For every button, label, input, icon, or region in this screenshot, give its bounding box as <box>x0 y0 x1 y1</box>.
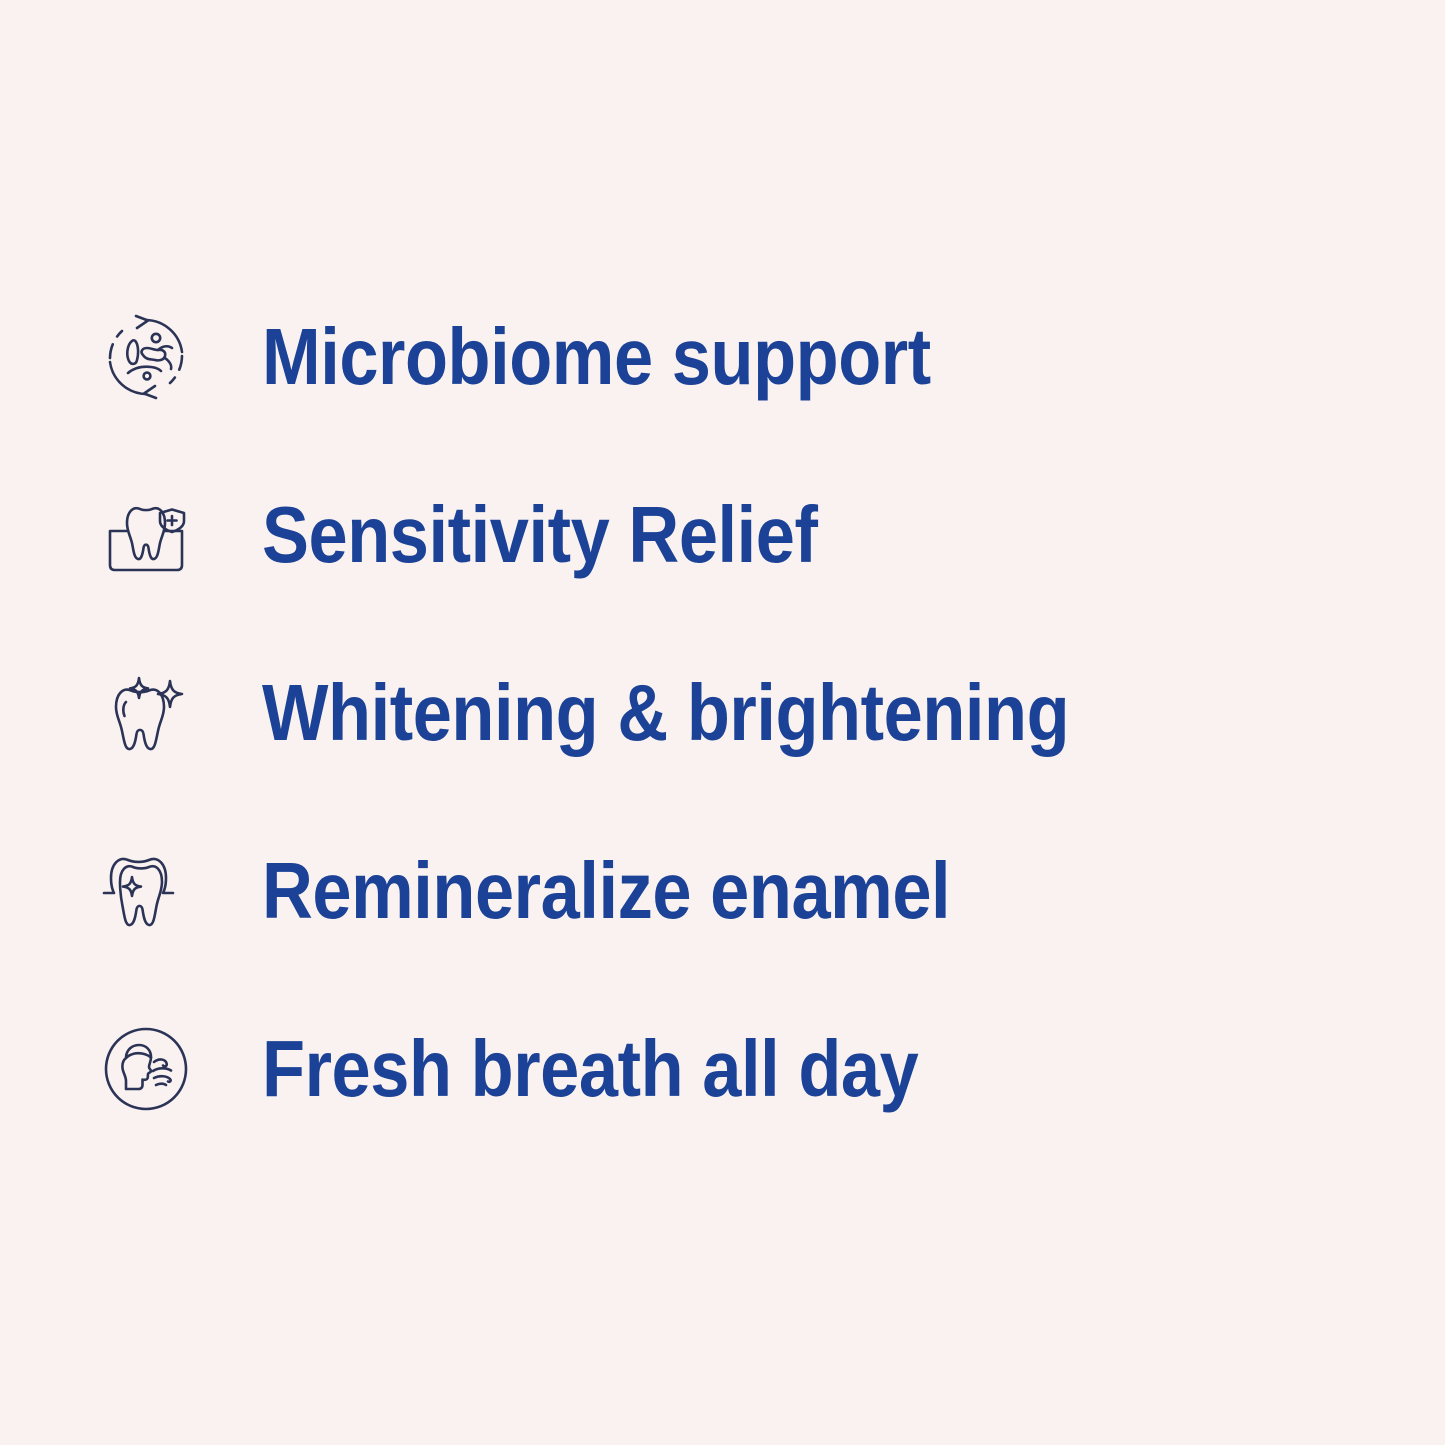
feature-row-sensitivity-relief: Sensitivity Relief <box>96 446 1376 624</box>
feature-row-fresh-breath: Fresh breath all day <box>96 980 1376 1158</box>
tooth-enamel-layer-icon <box>96 837 204 945</box>
microbiome-cycle-icon <box>96 303 204 411</box>
feature-row-remineralize-enamel: Remineralize enamel <box>96 802 1376 980</box>
feature-label: Microbiome support <box>262 317 931 397</box>
feature-benefits-panel: Microbiome support Sensitivity Relief <box>0 0 1445 1445</box>
feature-list: Microbiome support Sensitivity Relief <box>96 268 1376 1158</box>
feature-label: Fresh breath all day <box>262 1029 918 1109</box>
feature-label: Sensitivity Relief <box>262 495 817 575</box>
feature-label: Whitening & brightening <box>262 673 1069 753</box>
feature-row-microbiome-support: Microbiome support <box>96 268 1376 446</box>
feature-row-whitening-brightening: Whitening & brightening <box>96 624 1376 802</box>
tooth-sparkles-icon <box>96 659 204 767</box>
tooth-gum-shield-icon <box>96 481 204 589</box>
fresh-breath-head-icon <box>96 1015 204 1123</box>
feature-label: Remineralize enamel <box>262 851 950 931</box>
